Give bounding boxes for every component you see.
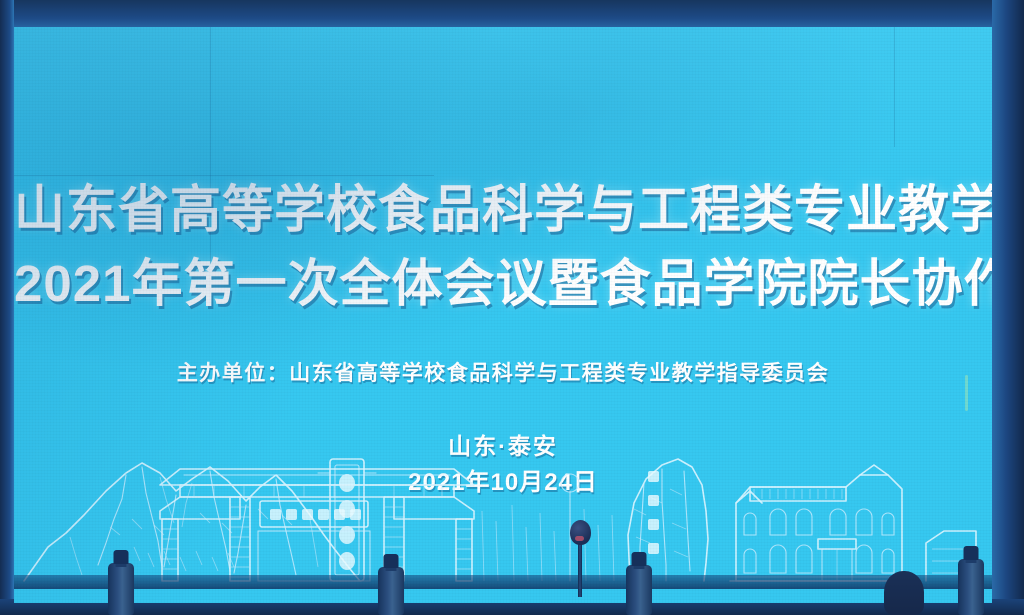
stage-ground-band [14, 575, 992, 589]
foreground-branches [482, 505, 614, 581]
lamp-post [561, 474, 579, 581]
slide-date: 2021年10月24日 [14, 462, 992, 497]
right-rock-text [648, 471, 659, 554]
slide-title-line-1: 山东省高等学校食品科学与工程类专业教学指导委员会 [14, 168, 992, 242]
screen-bezel-top [0, 0, 1024, 30]
gate-lintel-text [270, 509, 361, 520]
panel-seam-vertical [210, 27, 211, 277]
mount-tai-peaks [24, 463, 360, 581]
slide-title-line-2: 2021年第一次全体会议暨食品学院院长协作会 [14, 242, 992, 316]
stone-stele [318, 459, 376, 581]
university-gate-archway [160, 469, 474, 581]
historic-building [730, 465, 908, 581]
outbuilding [926, 531, 976, 581]
conference-photo: 山东省高等学校食品科学与工程类专业教学指导委员会 2021年第一次全体会议暨食品… [0, 0, 1024, 615]
inscribed-rock [628, 459, 708, 581]
panel-seam-vertical-right [894, 27, 895, 147]
led-projection-screen: 山东省高等学校食品科学与工程类专业教学指导委员会 2021年第一次全体会议暨食品… [14, 27, 992, 603]
panel-seam-horizontal [14, 175, 434, 176]
projection-sheen [14, 27, 992, 603]
stray-light-reflection [965, 375, 968, 411]
skyline-illustration [14, 439, 992, 589]
screen-bezel-left [0, 0, 14, 615]
screen-bezel-right [992, 0, 1024, 615]
slide-location: 山东·泰安 [14, 427, 992, 461]
slide-organizer: 主办单位：山东省高等学校食品科学与工程类专业教学指导委员会 [14, 357, 992, 387]
led-pixel-texture [14, 27, 992, 603]
